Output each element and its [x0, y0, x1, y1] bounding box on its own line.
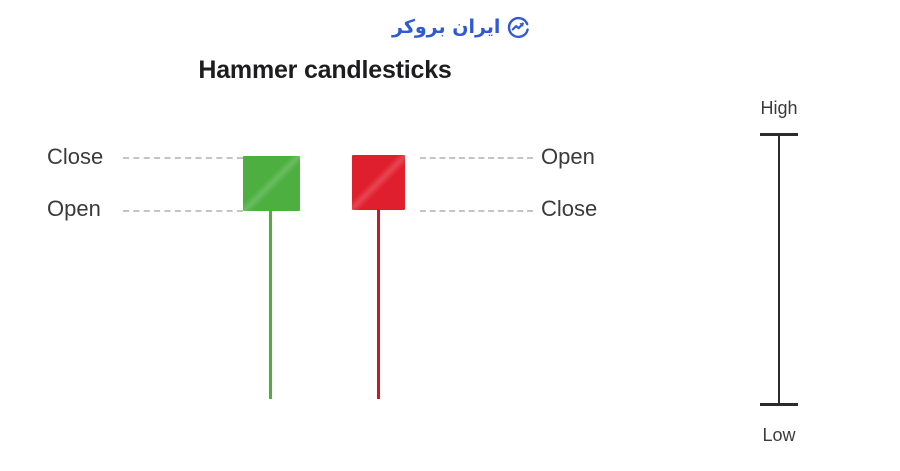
candle-lower-wick-red [377, 209, 380, 399]
range-vertical-line [778, 134, 780, 404]
range-cap-bottom [760, 403, 798, 406]
label-high: High [739, 99, 819, 117]
label-open-left: Open [47, 198, 101, 220]
candle-body-green [243, 156, 300, 211]
candle-lower-wick-green [269, 210, 272, 399]
diagram-canvas: ایران بروکر Hammer candlesticks Close Op… [0, 0, 900, 471]
label-close-left: Close [47, 146, 103, 168]
page-title: Hammer candlesticks [0, 56, 650, 85]
label-low: Low [739, 426, 819, 444]
brand-name: ایران بروکر [392, 18, 500, 37]
brand-logo: ایران بروکر [392, 12, 530, 42]
label-open-right: Open [541, 146, 595, 168]
label-close-right: Close [541, 198, 597, 220]
chart-arrow-circle-icon [506, 15, 530, 39]
dashed-line-open-left [123, 210, 243, 212]
dashed-line-open-right [420, 157, 533, 159]
dashed-line-close-right [420, 210, 533, 212]
candle-body-red [352, 155, 405, 210]
dashed-line-close-left [123, 157, 243, 159]
